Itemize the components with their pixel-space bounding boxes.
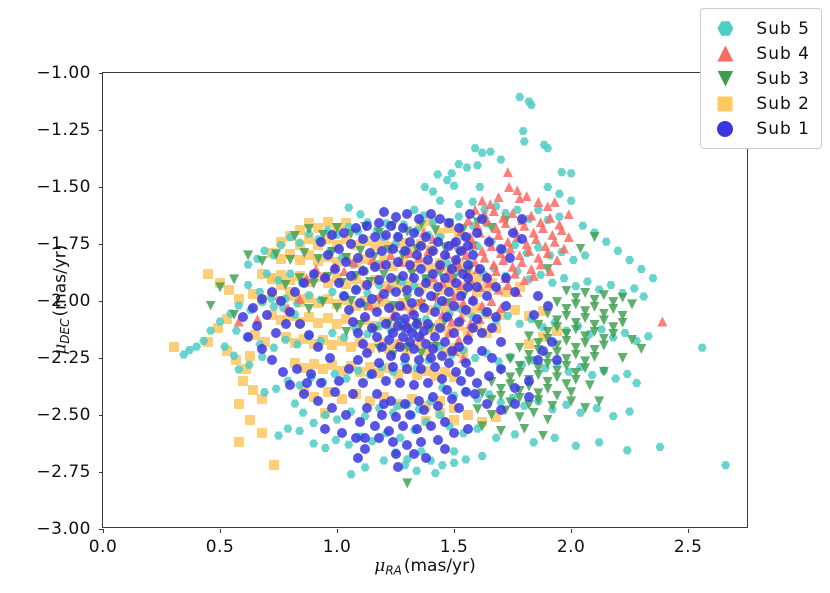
- data-point: [393, 232, 403, 242]
- data-point: [482, 273, 492, 283]
- data-point: [547, 337, 557, 347]
- data-point: [381, 319, 391, 329]
- data-point: [379, 399, 389, 409]
- data-point: [358, 339, 368, 349]
- data-point: [423, 319, 433, 329]
- data-point: [409, 380, 419, 390]
- data-point: [386, 396, 396, 406]
- data-point: [381, 376, 391, 386]
- data-point: [447, 264, 457, 274]
- legend-item-sub-2[interactable]: Sub 2: [710, 91, 810, 116]
- data-point: [238, 312, 248, 322]
- data-point: [447, 346, 457, 356]
- data-point: [381, 260, 391, 270]
- data-point: [388, 244, 398, 254]
- data-point: [508, 228, 518, 238]
- data-point: [391, 412, 401, 422]
- data-point: [529, 310, 539, 320]
- data-point: [370, 232, 380, 242]
- data-point: [327, 403, 337, 413]
- legend-item-sub-3[interactable]: Sub 3: [710, 66, 810, 91]
- data-point: [285, 307, 295, 317]
- data-point: [276, 296, 286, 306]
- data-point: [454, 317, 464, 327]
- data-point: [496, 337, 506, 347]
- data-point: [440, 417, 450, 427]
- data-point: [271, 328, 281, 338]
- data-point: [524, 376, 534, 386]
- data-point: [510, 383, 520, 393]
- data-point: [386, 221, 396, 231]
- data-point: [505, 253, 515, 263]
- data-point: [477, 328, 487, 338]
- data-point: [334, 244, 344, 254]
- data-point: [302, 378, 312, 388]
- data-point: [472, 378, 482, 388]
- data-point: [409, 228, 419, 238]
- data-point: [449, 301, 459, 311]
- data-point: [290, 287, 300, 297]
- data-point: [421, 339, 431, 349]
- data-point: [407, 328, 417, 338]
- data-point: [362, 280, 372, 290]
- data-point: [501, 273, 511, 283]
- data-point: [398, 332, 408, 342]
- data-point: [430, 307, 440, 317]
- data-point: [451, 255, 461, 265]
- data-point: [456, 376, 466, 386]
- data-point: [360, 433, 370, 443]
- data-point: [421, 278, 431, 288]
- legend-marker-icon: [710, 69, 740, 89]
- data-point: [377, 246, 387, 256]
- data-point: [414, 287, 424, 297]
- x-tick-mark: [688, 529, 689, 533]
- data-point: [400, 246, 410, 256]
- triangle-down-icon: [717, 71, 733, 87]
- data-point: [377, 342, 387, 352]
- data-point: [468, 323, 478, 333]
- data-point: [463, 273, 473, 283]
- legend-item-sub-5[interactable]: Sub 5: [710, 16, 810, 41]
- data-point: [444, 218, 454, 228]
- data-point: [334, 376, 344, 386]
- data-point: [330, 264, 340, 274]
- data-point: [330, 387, 340, 397]
- data-point: [316, 237, 326, 247]
- data-point: [472, 228, 482, 238]
- data-point: [381, 230, 391, 240]
- data-point: [313, 396, 323, 406]
- data-point: [325, 353, 335, 363]
- data-point: [267, 287, 277, 297]
- data-point: [407, 298, 417, 308]
- x-tick-label: 0.5: [206, 537, 235, 557]
- data-point: [552, 355, 562, 365]
- data-point: [285, 380, 295, 390]
- data-point: [426, 353, 436, 363]
- data-point: [316, 378, 326, 388]
- x-axis-label-subscript: RA: [385, 563, 402, 577]
- data-point: [372, 332, 382, 342]
- data-point: [440, 273, 450, 283]
- data-point: [370, 262, 380, 272]
- data-point: [362, 221, 372, 231]
- data-point: [543, 301, 553, 311]
- data-point: [341, 410, 351, 420]
- data-point: [442, 385, 452, 395]
- data-point: [435, 323, 445, 333]
- y-axis-label: μDEC(mas/yr): [6, 72, 116, 528]
- data-point: [405, 237, 415, 247]
- data-point: [344, 305, 354, 315]
- data-point: [437, 296, 447, 306]
- data-point: [517, 234, 527, 244]
- data-point: [353, 453, 363, 463]
- data-point: [482, 291, 492, 301]
- data-point: [402, 285, 412, 295]
- data-point: [426, 291, 436, 301]
- data-point: [353, 253, 363, 263]
- data-point: [477, 214, 487, 224]
- data-point: [351, 433, 361, 443]
- data-point: [370, 421, 380, 431]
- data-point: [451, 367, 461, 377]
- data-point: [348, 317, 358, 327]
- data-point: [384, 335, 394, 345]
- legend-marker-icon: [710, 44, 740, 64]
- data-point: [344, 364, 354, 374]
- data-point: [320, 273, 330, 283]
- data-point: [358, 266, 368, 276]
- data-point: [355, 298, 365, 308]
- data-point: [496, 364, 506, 374]
- data-point: [400, 353, 410, 363]
- square-icon: [718, 96, 733, 111]
- plot-axes: 0.00.51.01.52.02.5−1.00−1.25−1.50−1.75−2…: [102, 72, 748, 528]
- x-axis-label-mu: μ: [374, 556, 385, 576]
- series-group-sub-1: [103, 73, 749, 529]
- data-point: [327, 230, 337, 240]
- data-point: [421, 232, 431, 242]
- data-point: [362, 403, 372, 413]
- data-point: [405, 337, 415, 347]
- data-point: [393, 321, 403, 331]
- data-point: [398, 271, 408, 281]
- x-tick-mark: [220, 529, 221, 533]
- data-point: [386, 273, 396, 283]
- data-point: [299, 389, 309, 399]
- data-point: [477, 346, 487, 356]
- data-point: [463, 424, 473, 434]
- data-point: [487, 323, 497, 333]
- data-point: [426, 209, 436, 219]
- data-point: [402, 323, 412, 333]
- data-point: [510, 399, 520, 409]
- data-point: [341, 257, 351, 267]
- data-point: [257, 344, 267, 354]
- legend-marker-icon: [710, 119, 740, 139]
- data-point: [391, 212, 401, 222]
- data-point: [355, 417, 365, 427]
- circle-icon: [717, 121, 733, 137]
- data-point: [402, 440, 412, 450]
- data-point: [419, 405, 429, 415]
- data-point: [348, 389, 358, 399]
- data-point: [323, 250, 333, 260]
- data-point: [437, 351, 447, 361]
- data-point: [405, 410, 415, 420]
- data-point: [402, 209, 412, 219]
- data-point: [454, 223, 464, 233]
- data-point: [538, 346, 548, 356]
- data-point: [292, 364, 302, 374]
- data-point: [400, 399, 410, 409]
- data-point: [430, 332, 440, 342]
- data-point: [409, 344, 419, 354]
- data-point: [414, 214, 424, 224]
- data-point: [393, 462, 403, 472]
- data-point: [384, 303, 394, 313]
- data-point: [414, 396, 424, 406]
- legend-label: Sub 3: [756, 69, 810, 89]
- data-point: [454, 403, 464, 413]
- data-point: [419, 303, 429, 313]
- data-point: [501, 301, 511, 311]
- data-point: [484, 371, 494, 381]
- data-point: [428, 246, 438, 256]
- data-point: [416, 241, 426, 251]
- data-point: [360, 444, 370, 454]
- data-point: [398, 421, 408, 431]
- data-point: [524, 392, 534, 402]
- x-tick-label: 1.5: [440, 537, 469, 557]
- x-tick-label: 1.0: [323, 537, 352, 557]
- data-point: [442, 312, 452, 322]
- x-tick-label: 0.0: [89, 537, 118, 557]
- x-tick-label: 2.0: [557, 537, 586, 557]
- legend[interactable]: Sub 5Sub 4Sub 3Sub 2Sub 1: [700, 8, 822, 149]
- data-point: [433, 237, 443, 247]
- data-point: [435, 214, 445, 224]
- data-point: [379, 289, 389, 299]
- data-point: [449, 328, 459, 338]
- data-point: [278, 367, 288, 377]
- data-point: [281, 319, 291, 329]
- x-tick-mark: [337, 529, 338, 533]
- data-point: [334, 278, 344, 288]
- data-point: [400, 314, 410, 324]
- data-point: [461, 358, 471, 368]
- data-point: [409, 310, 419, 320]
- triangle-up-icon: [717, 46, 733, 62]
- data-point: [461, 305, 471, 315]
- data-point: [437, 374, 447, 384]
- data-point: [465, 209, 475, 219]
- data-point: [449, 428, 459, 438]
- data-point: [475, 264, 485, 274]
- data-point: [440, 250, 450, 260]
- data-point: [426, 421, 436, 431]
- data-point: [510, 287, 520, 297]
- data-point: [433, 435, 443, 445]
- data-point: [463, 282, 473, 292]
- data-point: [243, 332, 253, 342]
- data-point: [309, 269, 319, 279]
- data-point: [358, 378, 368, 388]
- data-point: [416, 264, 426, 274]
- data-point: [365, 248, 375, 258]
- data-point: [454, 342, 464, 352]
- legend-label: Sub 2: [756, 94, 810, 114]
- data-point: [262, 310, 272, 320]
- scatter-plot-figure: 0.00.51.01.52.02.5−1.00−1.25−1.50−1.75−2…: [0, 0, 830, 593]
- data-point: [405, 260, 415, 270]
- data-point: [367, 294, 377, 304]
- data-point: [428, 269, 438, 279]
- data-point: [391, 287, 401, 297]
- data-point: [358, 234, 368, 244]
- data-point: [299, 278, 309, 288]
- legend-item-sub-1[interactable]: Sub 1: [710, 116, 810, 141]
- data-point: [395, 301, 405, 311]
- data-point: [465, 367, 475, 377]
- data-point: [351, 285, 361, 295]
- data-point: [456, 246, 466, 256]
- data-point: [295, 319, 305, 329]
- data-point: [374, 275, 384, 285]
- data-point: [428, 392, 438, 402]
- data-point: [379, 207, 389, 217]
- legend-item-sub-4[interactable]: Sub 4: [710, 41, 810, 66]
- data-point: [533, 355, 543, 365]
- data-point: [451, 278, 461, 288]
- data-point: [337, 428, 347, 438]
- data-point: [374, 218, 384, 228]
- data-point: [353, 355, 363, 365]
- data-point: [419, 326, 429, 336]
- data-point: [468, 296, 478, 306]
- data-point: [395, 378, 405, 388]
- data-point: [320, 424, 330, 434]
- data-point: [433, 401, 443, 411]
- data-point: [374, 358, 384, 368]
- data-point: [248, 303, 258, 313]
- legend-marker-icon: [710, 19, 740, 39]
- data-point: [346, 239, 356, 249]
- data-point: [313, 342, 323, 352]
- data-point: [461, 387, 471, 397]
- x-tick-label: 2.5: [674, 537, 703, 557]
- y-axis-label-unit: (mas/yr): [50, 245, 70, 317]
- data-point: [391, 312, 401, 322]
- data-point: [470, 389, 480, 399]
- y-axis-label-subscript: DEC: [58, 319, 72, 344]
- data-point: [423, 255, 433, 265]
- data-point: [409, 449, 419, 459]
- data-point: [421, 453, 431, 463]
- data-point: [391, 449, 401, 459]
- data-point: [384, 426, 394, 436]
- data-canvas: [103, 73, 749, 529]
- data-point: [388, 328, 398, 338]
- y-tick-mark: [99, 529, 103, 530]
- data-point: [435, 260, 445, 270]
- data-point: [409, 273, 419, 283]
- data-point: [461, 232, 471, 242]
- data-point: [496, 244, 506, 254]
- data-point: [393, 257, 403, 267]
- data-point: [456, 291, 466, 301]
- data-point: [402, 364, 412, 374]
- data-point: [367, 369, 377, 379]
- data-point: [484, 237, 494, 247]
- data-point: [388, 362, 398, 372]
- legend-label: Sub 4: [756, 44, 810, 64]
- data-point: [304, 330, 314, 340]
- data-point: [533, 291, 543, 301]
- data-point: [468, 250, 478, 260]
- data-point: [440, 337, 450, 347]
- data-point: [306, 369, 316, 379]
- y-axis-label-mu: μ: [50, 344, 70, 355]
- legend-label: Sub 1: [756, 119, 810, 139]
- hexagon-icon: [717, 21, 733, 37]
- data-point: [346, 271, 356, 281]
- data-point: [372, 389, 382, 399]
- data-point: [386, 351, 396, 361]
- data-point: [395, 342, 405, 352]
- x-axis-label-unit: (mas/yr): [404, 556, 476, 576]
- data-point: [388, 437, 398, 447]
- legend-label: Sub 5: [756, 19, 810, 39]
- x-tick-mark: [571, 529, 572, 533]
- data-point: [451, 237, 461, 247]
- data-point: [257, 294, 267, 304]
- data-point: [472, 314, 482, 324]
- data-point: [339, 228, 349, 238]
- data-point: [412, 319, 422, 329]
- data-point: [412, 424, 422, 434]
- x-tick-mark: [454, 529, 455, 533]
- data-point: [372, 307, 382, 317]
- data-point: [491, 282, 501, 292]
- data-point: [463, 241, 473, 251]
- data-point: [374, 433, 384, 443]
- data-point: [398, 223, 408, 233]
- data-point: [414, 355, 424, 365]
- legend-marker-icon: [710, 94, 740, 114]
- data-point: [416, 364, 426, 374]
- data-point: [491, 312, 501, 322]
- data-point: [414, 332, 424, 342]
- data-point: [360, 312, 370, 322]
- data-point: [458, 269, 468, 279]
- data-point: [482, 399, 492, 409]
- data-point: [496, 405, 506, 415]
- data-point: [430, 362, 440, 372]
- data-point: [267, 355, 277, 365]
- data-point: [463, 260, 473, 270]
- data-point: [444, 287, 454, 297]
- data-point: [353, 328, 363, 338]
- data-point: [423, 378, 433, 388]
- x-axis-label: μRA(mas/yr): [102, 556, 748, 577]
- data-point: [447, 394, 457, 404]
- data-point: [487, 353, 497, 363]
- data-point: [362, 348, 372, 358]
- data-point: [444, 358, 454, 368]
